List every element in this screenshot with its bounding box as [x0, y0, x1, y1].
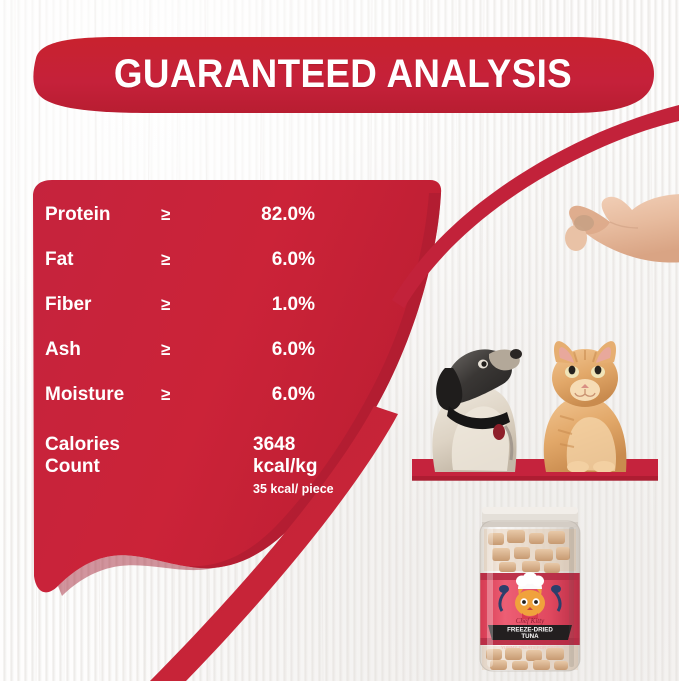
calories-label: Calories Count [45, 434, 120, 478]
operator-symbol: ≥ [161, 205, 170, 225]
cat-image [530, 320, 640, 472]
hand-holding-treat-image [540, 190, 679, 285]
nutrient-value: 6.0% [175, 249, 315, 271]
nutrient-label: Ash [45, 339, 81, 361]
calories-value-unit: kcal/kg [253, 456, 317, 477]
operator-symbol: ≥ [161, 250, 170, 270]
nutrient-value: 6.0% [175, 384, 315, 406]
nutrient-label: Protein [45, 204, 110, 226]
nutrient-value: 6.0% [175, 339, 315, 361]
jar-contents-bottom [482, 646, 578, 670]
ladle-icon [551, 585, 561, 593]
collar-tag [493, 424, 505, 440]
nutrient-label: Fiber [45, 294, 91, 316]
dog-nose [510, 349, 522, 359]
calories-label-line2: Count [45, 456, 100, 477]
operator-symbol: ≥ [161, 340, 170, 360]
table-row: Protein ≥ 82.0% [45, 204, 335, 249]
nutrient-value: 82.0% [175, 204, 315, 226]
nutrient-label: Moisture [45, 384, 124, 406]
calories-value: 3648 kcal/kg [175, 434, 315, 478]
table-row: Moisture ≥ 6.0% [45, 384, 335, 429]
guaranteed-analysis-table: Protein ≥ 82.0% Fat ≥ 6.0% Fiber ≥ 1.0% … [45, 204, 335, 510]
product-jar-image: Chef Kitty FREEZE-DRIED TUNA YUMMY TREAT… [474, 503, 586, 675]
calories-row: Calories Count 3648 kcal/kg 35 kcal/ pie… [45, 434, 335, 510]
spoon-icon [499, 585, 509, 593]
table-row: Ash ≥ 6.0% [45, 339, 335, 384]
operator-symbol: ≥ [161, 385, 170, 405]
guaranteed-analysis-infographic: GUARANTEED ANALYSIS Protein ≥ 82.0% Fat … [0, 0, 679, 681]
jar-contents-top [484, 529, 576, 573]
page-title-banner: GUARANTEED ANALYSIS [28, 34, 658, 117]
jar-brand-text: Chef Kitty [516, 617, 545, 625]
dog-image [415, 310, 545, 472]
red-shelf-shadow [412, 476, 658, 481]
table-row: Fiber ≥ 1.0% [45, 294, 335, 339]
calories-label-line1: Calories [45, 434, 120, 455]
product-name-line2: TUNA [521, 633, 539, 640]
nutrient-label: Fat [45, 249, 74, 271]
nutrient-value: 1.0% [175, 294, 315, 316]
treat-piece [574, 215, 594, 231]
calories-per-piece-note: 35 kcal/ piece [175, 482, 327, 496]
operator-symbol: ≥ [161, 295, 170, 315]
calories-value-amount: 3648 [253, 434, 295, 455]
page-title: GUARANTEED ANALYSIS [53, 34, 633, 117]
table-row: Fat ≥ 6.0% [45, 249, 335, 294]
